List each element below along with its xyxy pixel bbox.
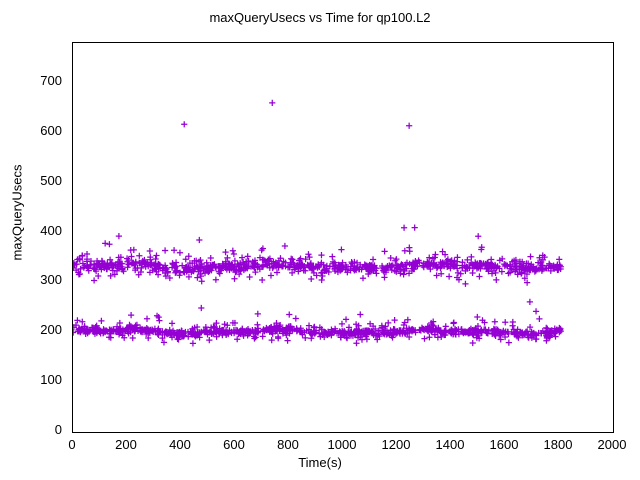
data-point [339,321,345,327]
y-axis-tick-label: 100 [4,372,62,387]
data-point [91,277,97,283]
data-point [284,338,290,344]
y-axis-tick-label: 600 [4,123,62,138]
data-point [269,337,275,343]
data-point [475,233,481,239]
data-point [527,254,533,260]
data-point [421,336,427,342]
data-point [506,340,512,346]
data-point [293,315,299,321]
data-point [536,316,542,322]
data-point [381,274,387,280]
y-axis-title: maxQueryUsecs [10,133,25,293]
data-point [231,251,237,257]
data-point [401,225,407,231]
data-point [169,320,175,326]
data-point [116,233,122,239]
data-point [147,248,153,254]
y-axis-tick-label: 500 [4,173,62,188]
data-point [510,323,516,329]
data-point [259,277,265,283]
data-point [98,318,104,324]
plot-area [72,42,614,433]
data-point [493,277,499,283]
data-point [338,246,344,252]
data-point [131,247,137,253]
data-point [282,243,288,249]
data-point [239,255,245,261]
data-point [353,340,359,346]
data-point [130,335,136,341]
y-axis-tick-label: 0 [4,422,62,437]
data-point [533,308,539,314]
data-point [302,335,308,341]
data-point [247,274,253,280]
data-point [190,340,196,346]
data-point [470,340,476,346]
data-point [343,316,349,322]
data-point [183,256,189,262]
x-axis-title: Time(s) [0,455,640,470]
y-axis-tick-label: 300 [4,272,62,287]
data-point [318,252,324,258]
data-point [136,253,142,259]
data-point [406,245,412,251]
data-point [476,273,482,279]
data-point [412,225,418,231]
data-point [406,123,412,129]
data-point [208,255,214,261]
data-point [230,248,236,254]
data-point [492,319,498,325]
data-points-group [73,100,564,347]
data-point [153,252,159,258]
chart-page: maxQueryUsecs vs Time for qp100.L2 maxQu… [0,0,640,480]
data-point [198,305,204,311]
data-point [194,275,200,281]
data-point [255,311,261,317]
data-point [370,256,376,262]
y-axis-tick-label: 400 [4,223,62,238]
data-point [177,250,183,256]
data-point [502,319,508,325]
data-point [446,273,452,279]
data-point [319,277,325,283]
data-point [231,276,237,282]
data-point [286,311,292,317]
data-point [199,278,205,284]
data-point [392,317,398,323]
data-point [269,100,275,106]
data-point [268,272,274,278]
data-point [527,324,533,330]
data-point [102,240,108,246]
data-point [474,314,480,320]
data-point [196,237,202,243]
data-point [106,241,112,247]
data-point [451,319,457,325]
data-point [234,336,240,342]
data-point [74,317,80,323]
data-point [527,299,533,305]
data-point [206,337,212,343]
data-point [128,312,134,318]
data-point [462,281,468,287]
data-point [162,247,168,253]
data-point [329,254,335,260]
data-point [382,248,388,254]
data-point [360,275,366,281]
data-point [454,254,460,260]
data-point [144,316,150,322]
data-point [275,334,281,340]
data-point [73,329,76,335]
data-point [222,249,228,255]
data-point [385,320,391,326]
y-axis-tick-label: 200 [4,322,62,337]
data-point [469,270,475,276]
y-axis-tick-label: 700 [4,73,62,88]
data-point [305,251,311,257]
scatter-plot-svg [73,43,613,432]
data-point [308,276,314,282]
data-point [401,271,407,277]
data-point [186,253,192,259]
chart-title: maxQueryUsecs vs Time for qp100.L2 [0,10,640,25]
x-axis-tick-label: 2000 [577,437,640,452]
data-point [108,273,114,279]
data-point [213,277,219,283]
data-point [468,254,474,260]
data-point [357,311,363,317]
data-point [181,121,187,127]
data-point [402,248,408,254]
data-point [171,247,177,253]
